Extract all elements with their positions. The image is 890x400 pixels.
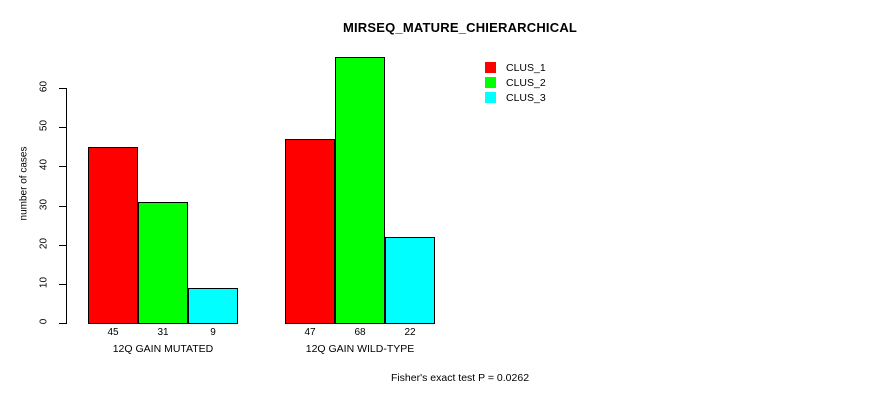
chart-legend: CLUS_1CLUS_2CLUS_3 — [485, 60, 546, 105]
bar-clus_1-group-2 — [285, 139, 335, 324]
bar-clus_3-group-2 — [385, 237, 435, 324]
legend-item-label: CLUS_2 — [506, 77, 546, 89]
legend-item-clus_3: CLUS_3 — [485, 90, 546, 105]
bar-clus_3-group-1 — [188, 288, 238, 324]
bar-clus_1-group-1 — [88, 147, 138, 324]
bar-value-label: 31 — [138, 327, 188, 338]
chart-plot-area: MIRSEQ_MATURE_CHIERARCHICAL number of ca… — [0, 0, 890, 400]
legend-item-label: CLUS_3 — [506, 92, 546, 104]
group-label: 12Q GAIN WILD-TYPE — [285, 343, 435, 355]
group-label: 12Q GAIN MUTATED — [88, 343, 238, 355]
bar-value-label: 47 — [285, 327, 335, 338]
bar-value-label: 9 — [188, 327, 238, 338]
legend-item-clus_2: CLUS_2 — [485, 75, 546, 90]
legend-color-swatch-icon — [485, 77, 496, 88]
bar-clus_2-group-1 — [138, 202, 188, 324]
legend-color-swatch-icon — [485, 62, 496, 73]
bar-value-label: 22 — [385, 327, 435, 338]
bar-value-label: 45 — [88, 327, 138, 338]
legend-color-swatch-icon — [485, 92, 496, 103]
bar-clus_2-group-2 — [335, 57, 385, 324]
legend-item-clus_1: CLUS_1 — [485, 60, 546, 75]
bar-series-layer — [0, 0, 890, 400]
statistical-test-annotation: Fisher's exact test P = 0.0262 — [0, 372, 890, 384]
bar-value-label: 68 — [335, 327, 385, 338]
legend-item-label: CLUS_1 — [506, 62, 546, 74]
